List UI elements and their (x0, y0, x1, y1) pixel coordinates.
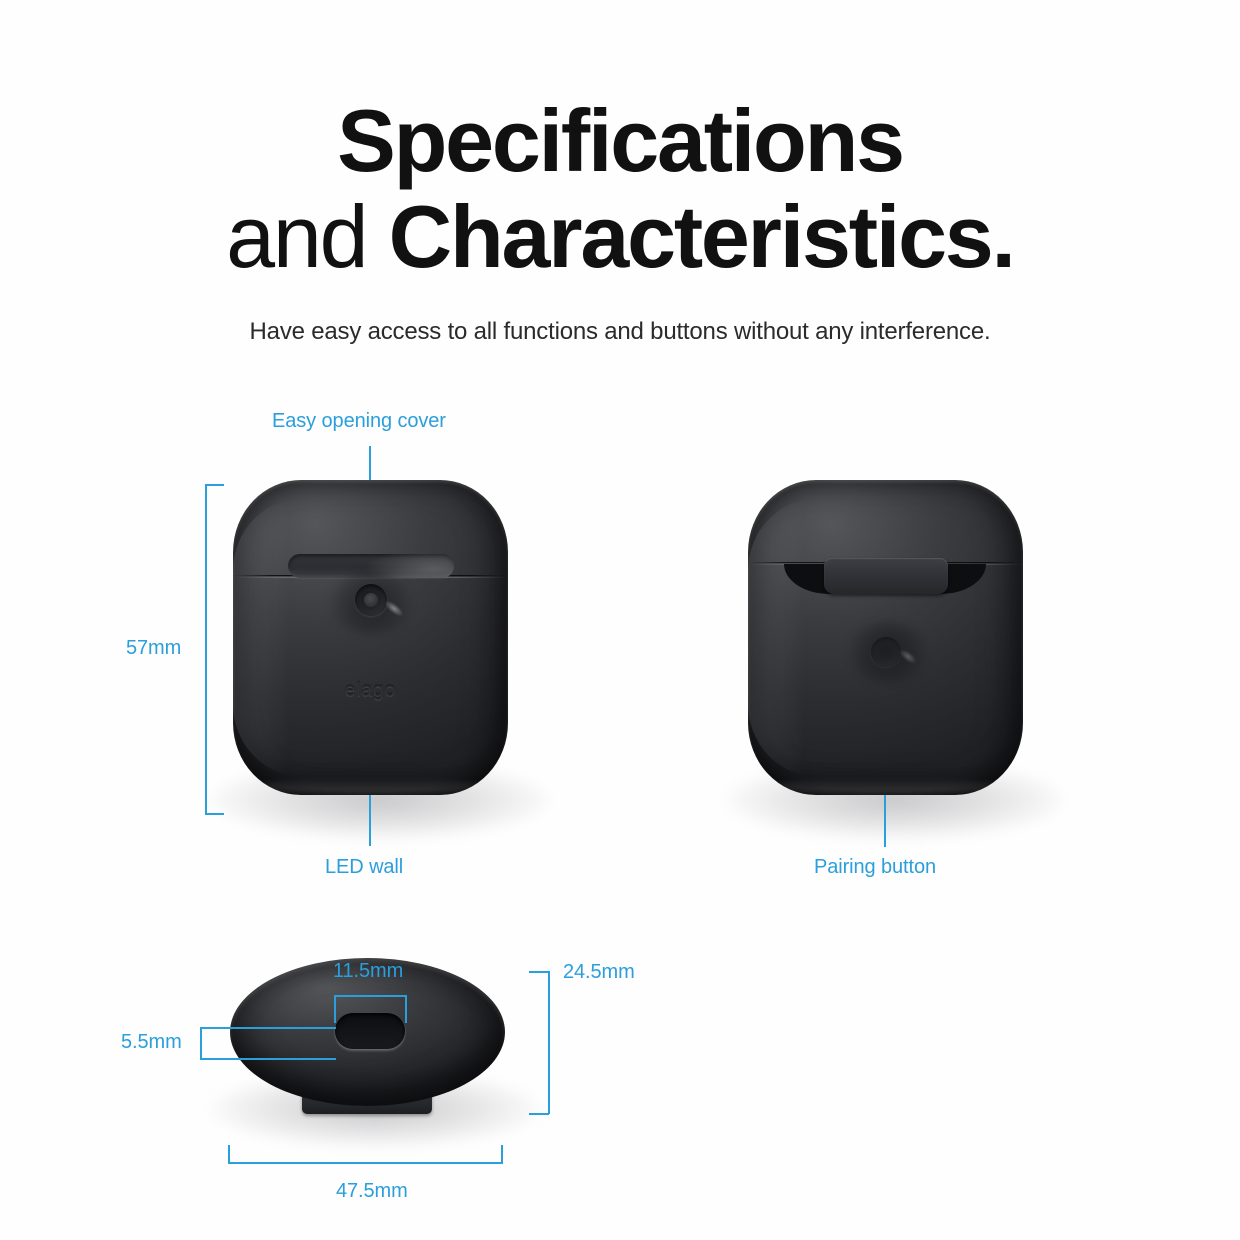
page-subtitle: Have easy access to all functions and bu… (0, 318, 1240, 346)
title-bold-part: Characteristics. (389, 187, 1014, 286)
label-port-width-11-5mm: 11.5mm (333, 960, 403, 983)
bracket-115-tick-left (334, 995, 336, 1023)
pairing-button-dimple (871, 637, 901, 667)
label-port-height-5-5mm: 5.5mm (121, 1031, 182, 1054)
front-view-figure: elago (200, 460, 560, 840)
label-led-wall: LED wall (325, 856, 403, 879)
label-depth-24-5mm: 24.5mm (563, 961, 635, 984)
back-view-figure (715, 460, 1075, 840)
bracket-57mm-vertical (205, 484, 207, 814)
hinge-bar (824, 558, 948, 594)
bracket-115-horizontal (334, 995, 406, 997)
bracket-55-extension-bottom (200, 1058, 336, 1060)
title-normal-part: and (226, 187, 388, 286)
bracket-57mm-tick-bottom (205, 813, 224, 815)
label-easy-opening-cover: Easy opening cover (272, 410, 446, 433)
page-title-line2: and Characteristics. (0, 192, 1240, 282)
bracket-475-tick-left (228, 1145, 230, 1163)
label-width-47-5mm: 47.5mm (336, 1180, 408, 1203)
page-header: Specifications and Characteristics. Have… (0, 0, 1240, 346)
brand-logo: elago (233, 680, 508, 702)
back-case-body (748, 480, 1023, 795)
bracket-475-tick-right (501, 1145, 503, 1163)
bracket-115-tick-right (405, 995, 407, 1023)
bracket-57mm-tick-top (205, 484, 224, 486)
front-case-body: elago (233, 480, 508, 795)
charging-port-cutout (335, 1013, 405, 1049)
led-indicator-core (364, 593, 378, 607)
specifications-infographic: Specifications and Characteristics. Have… (0, 0, 1240, 1240)
bracket-245-tick-top (529, 971, 549, 973)
bracket-245-tick-bottom (529, 1113, 549, 1115)
bracket-55-vertical (200, 1027, 202, 1060)
page-title-line1: Specifications (0, 96, 1240, 186)
bracket-475-horizontal (228, 1162, 503, 1164)
label-height-57mm: 57mm (126, 637, 181, 660)
bracket-245-vertical (548, 971, 550, 1114)
label-pairing-button: Pairing button (814, 856, 936, 879)
bracket-55-extension-top (200, 1027, 336, 1029)
